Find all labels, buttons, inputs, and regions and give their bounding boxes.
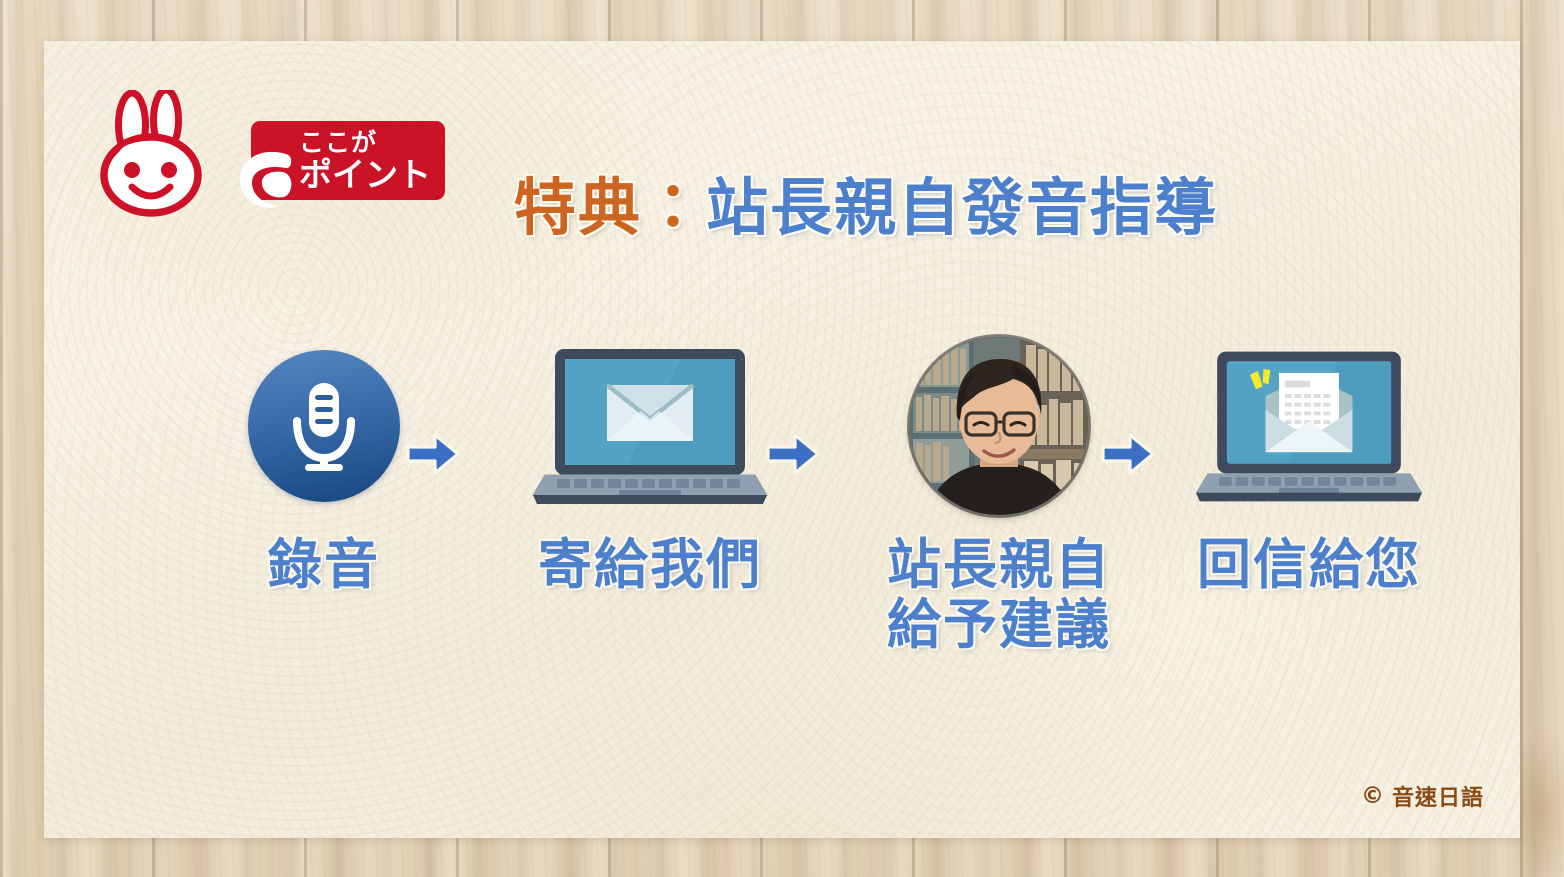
page-title: 特典：站長親自發音指導 <box>514 177 1218 239</box>
copyright-text: 音速日語 <box>1392 780 1484 812</box>
flow-arrow-2-icon <box>765 431 821 477</box>
flow-step-reply-label: 回信給您 <box>1164 535 1454 595</box>
brand-logo: ここが ポイント <box>96 90 446 218</box>
flow-arrow-3-icon <box>1100 431 1156 477</box>
laptop-open-envelope-icon <box>1194 343 1424 509</box>
flow-step-reply: 回信給您 <box>1164 331 1454 595</box>
copyright-notice: © 音速日語 <box>1361 780 1484 812</box>
microphone-badge <box>248 350 400 502</box>
flow-step-send-visual <box>494 331 806 521</box>
flow-step-advice-label: 站長親自 給予建議 <box>854 535 1144 656</box>
instructor-photo-icon <box>910 337 1088 515</box>
rabbit-mascot-icon <box>96 90 214 218</box>
process-flow: 錄音 <box>44 331 1520 751</box>
flow-step-send-label: 寄給我們 <box>494 535 806 595</box>
title-highlight: 特典： <box>514 171 706 244</box>
flow-arrow-1-icon <box>405 431 461 477</box>
content-card: ここが ポイント 特典：站長親自發音指導 <box>44 41 1520 838</box>
instructor-avatar <box>910 337 1088 515</box>
flow-step-advice: 站長親自 給予建議 <box>854 331 1144 656</box>
flow-step-send: 寄給我們 <box>494 331 806 595</box>
title-main: 站長親自發音指導 <box>706 171 1218 244</box>
swoosh-icon <box>236 148 298 212</box>
flow-step-advice-visual <box>854 331 1144 521</box>
microphone-icon <box>281 378 367 474</box>
copyright-symbol: © <box>1361 783 1385 809</box>
laptop-closed-envelope-icon <box>531 343 769 509</box>
badge-line-1: ここが <box>299 130 445 155</box>
flow-step-record-visual <box>194 331 454 521</box>
slide-canvas: ここが ポイント 特典：站長親自發音指導 <box>0 0 1564 877</box>
flow-step-record-label: 錄音 <box>194 535 454 595</box>
flow-step-reply-visual <box>1164 331 1454 521</box>
badge-line-2: ポイント <box>299 158 445 191</box>
